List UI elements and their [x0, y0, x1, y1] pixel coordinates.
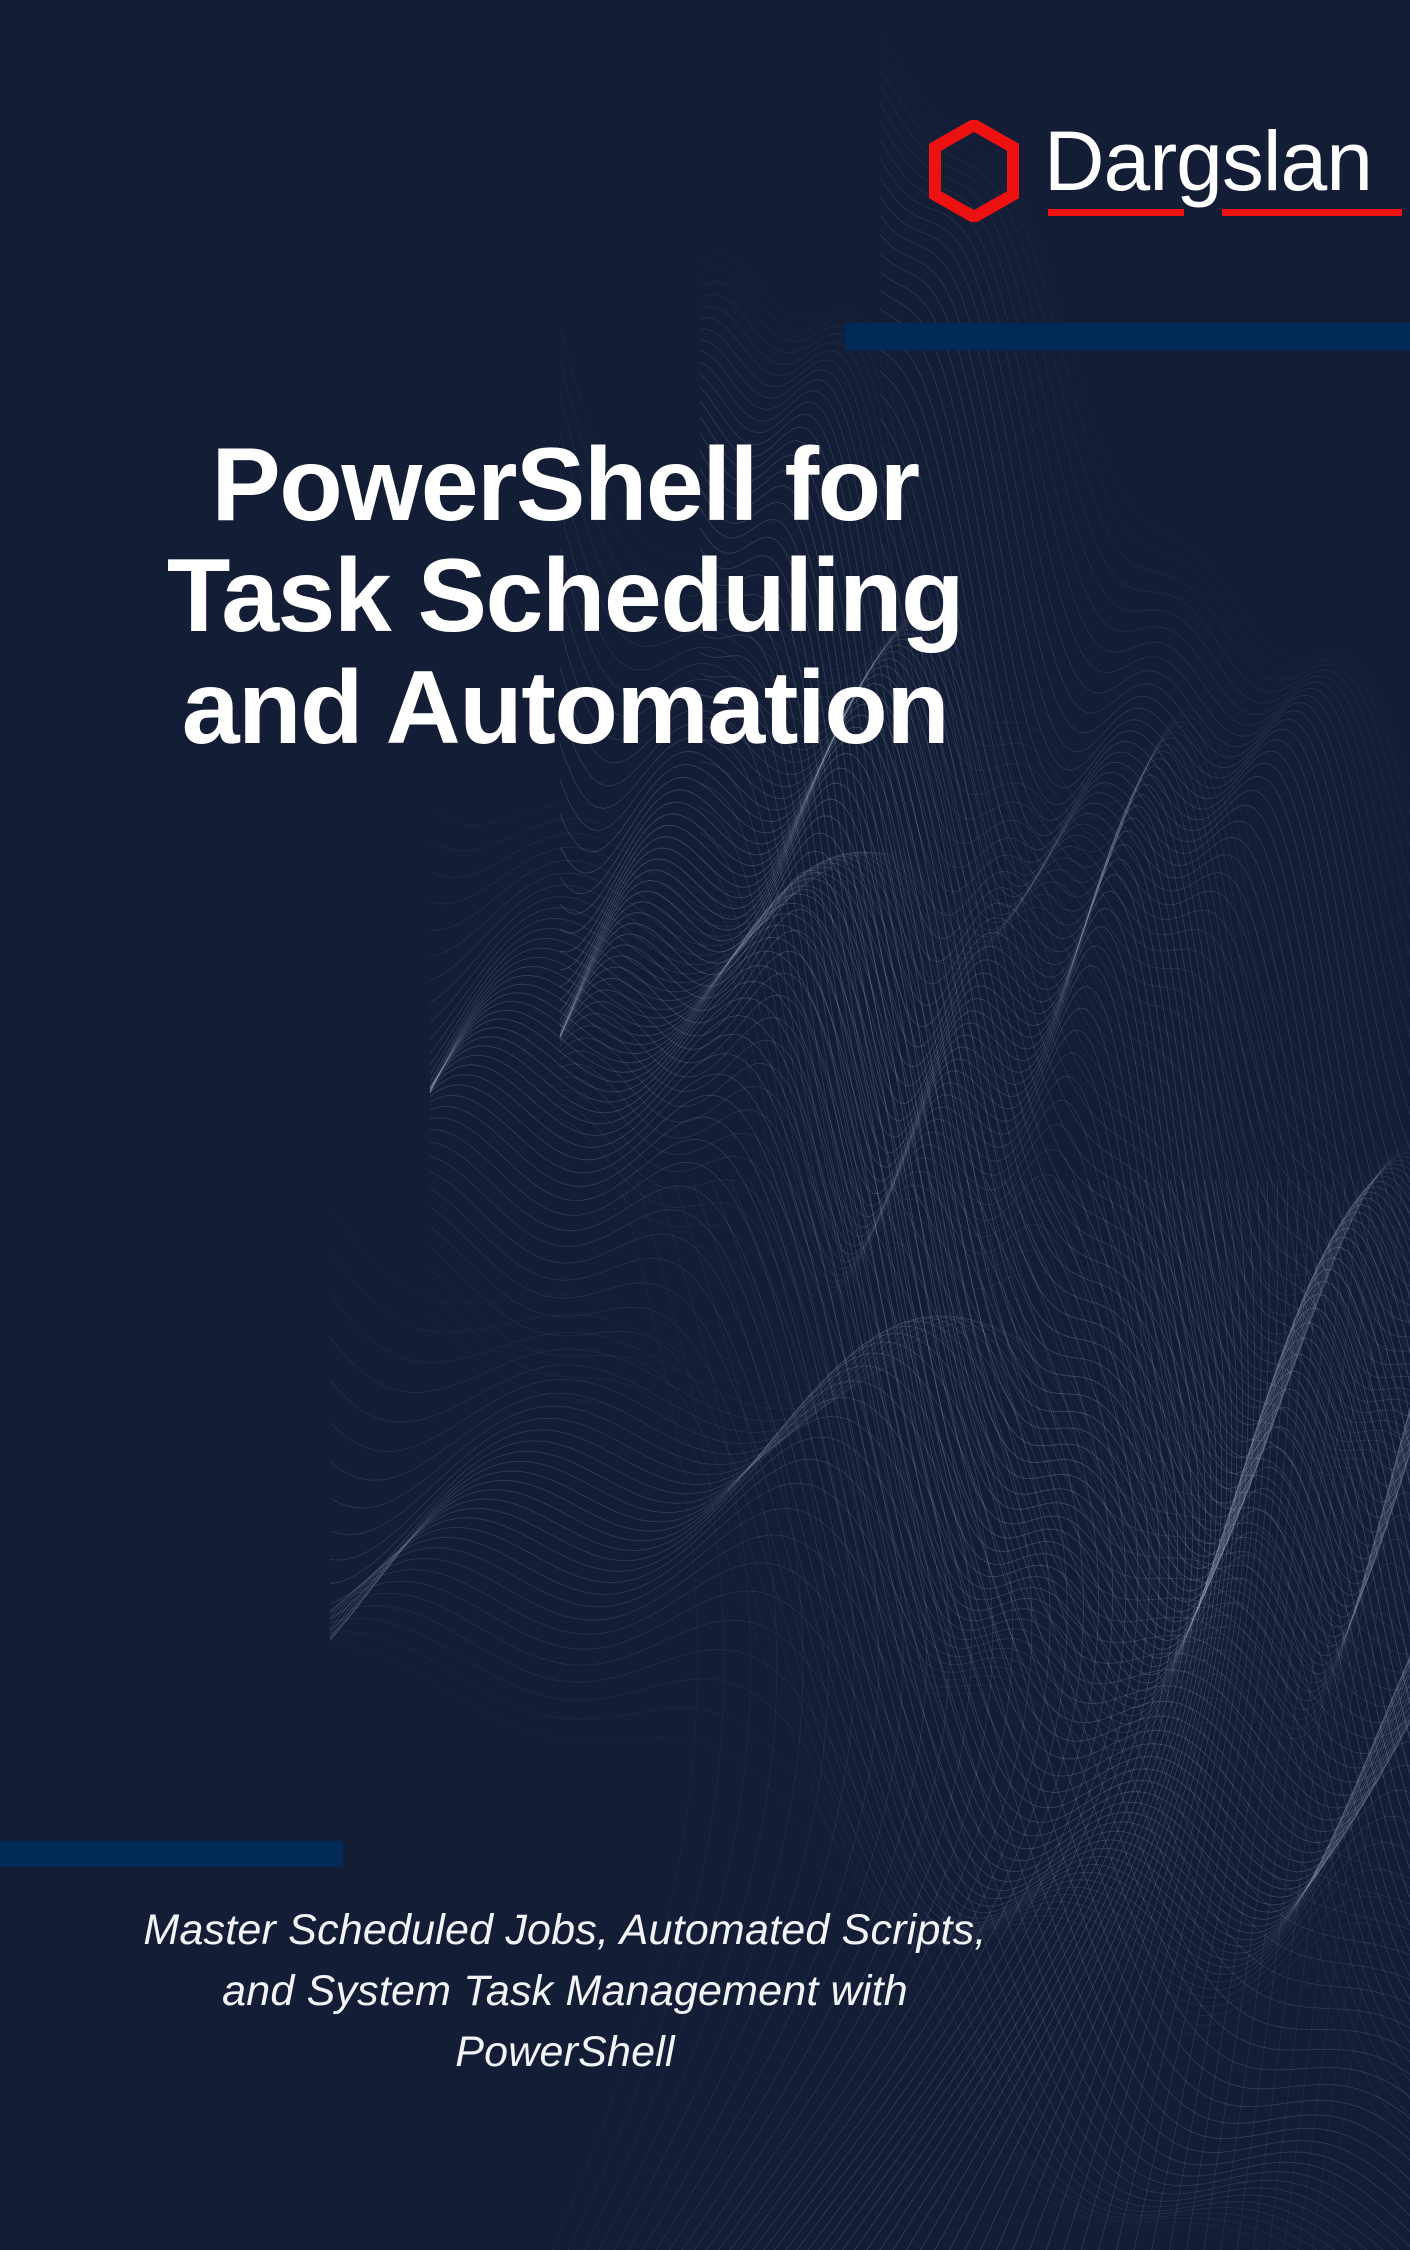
title-line-2: Task Scheduling: [0, 541, 1130, 652]
subtitle-line-1: Master Scheduled Jobs, Automated Scripts…: [0, 1900, 1130, 1961]
book-subtitle: Master Scheduled Jobs, Automated Scripts…: [0, 1900, 1130, 2083]
publisher-logo: Dargslan: [928, 120, 1372, 222]
wordmark-underline-right: [1222, 209, 1402, 216]
accent-bar-bottom: [0, 1841, 343, 1867]
book-title: PowerShell for Task Scheduling and Autom…: [0, 430, 1130, 764]
wordmark-wrap: Dargslan: [1044, 122, 1372, 220]
title-line-3: and Automation: [0, 653, 1130, 764]
hexagon-outline-icon: [928, 120, 1020, 222]
subtitle-line-3: PowerShell: [0, 2022, 1130, 2083]
wordmark-underline-left: [1048, 209, 1184, 216]
accent-bar-top: [845, 323, 1410, 350]
publisher-wordmark: Dargslan: [1044, 122, 1372, 202]
subtitle-line-2: and System Task Management with: [0, 1961, 1130, 2022]
book-cover: Dargslan PowerShell for Task Scheduling …: [0, 0, 1410, 2250]
title-line-1: PowerShell for: [0, 430, 1130, 541]
